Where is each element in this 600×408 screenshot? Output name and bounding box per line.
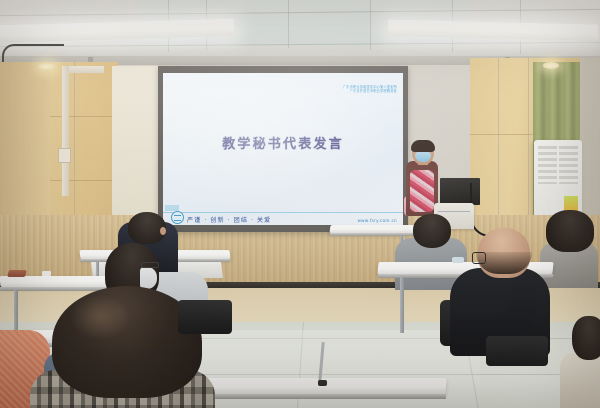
recessed-downlight-right [543, 62, 559, 69]
chair-mid-left [178, 300, 232, 334]
attendee-right-grey-shirt-head [413, 214, 451, 248]
slide-url: www.fsry.com.cn [357, 218, 397, 223]
slide-motto: 严谨 · 创新 · 团结 · 关爱 [187, 215, 271, 224]
wall-pipe-conduit [62, 66, 69, 196]
school-seal-logo-icon [171, 211, 184, 224]
attendee-glasses-icon [472, 252, 486, 264]
recessed-downlight-left [38, 63, 55, 70]
ceiling-grid-line [370, 0, 371, 50]
attendee-center-suit-ear [160, 227, 166, 235]
lectern-trim [438, 211, 470, 212]
slide-header-line2: 广东省外语艺术职业学院教务处 [343, 89, 397, 93]
pipe-junction-box [58, 148, 71, 163]
attendee-far-right-head [546, 210, 594, 252]
presenter-hair [411, 140, 435, 152]
ceiling-grid-line [288, 0, 289, 48]
teacup [452, 257, 464, 263]
projection-screen: 广东省职业技能鉴定中心第八鉴定所 广东省外语艺术职业学院教务处 教学秘书代表发言… [163, 73, 403, 225]
slide-footer-rule [163, 212, 403, 213]
white-eraser [42, 271, 51, 276]
attendee-glasses-icon [141, 262, 159, 268]
desk-leg [400, 277, 404, 333]
slide-header-text: 广东省职业技能鉴定中心第八鉴定所 广东省外语艺术职业学院教务处 [343, 85, 397, 94]
presenter-floral-vest [410, 170, 434, 212]
slide-title: 教学秘书代表发言 [163, 133, 403, 152]
seal-inner-mark [174, 215, 181, 221]
desk-edge [196, 394, 446, 399]
attendee-front-left-hair-sheen [70, 294, 130, 340]
chair-right-lower [486, 336, 548, 366]
chair-foot [318, 380, 327, 386]
ceiling [0, 0, 600, 62]
attendee-bottom-right-head [572, 316, 600, 360]
attendee-bottom-right-cream [560, 352, 600, 408]
mobile-phone [7, 270, 27, 277]
meeting-room-photo: 广东省职业技能鉴定中心第八鉴定所 广东省外语艺术职业学院教务处 教学秘书代表发言… [0, 0, 600, 408]
